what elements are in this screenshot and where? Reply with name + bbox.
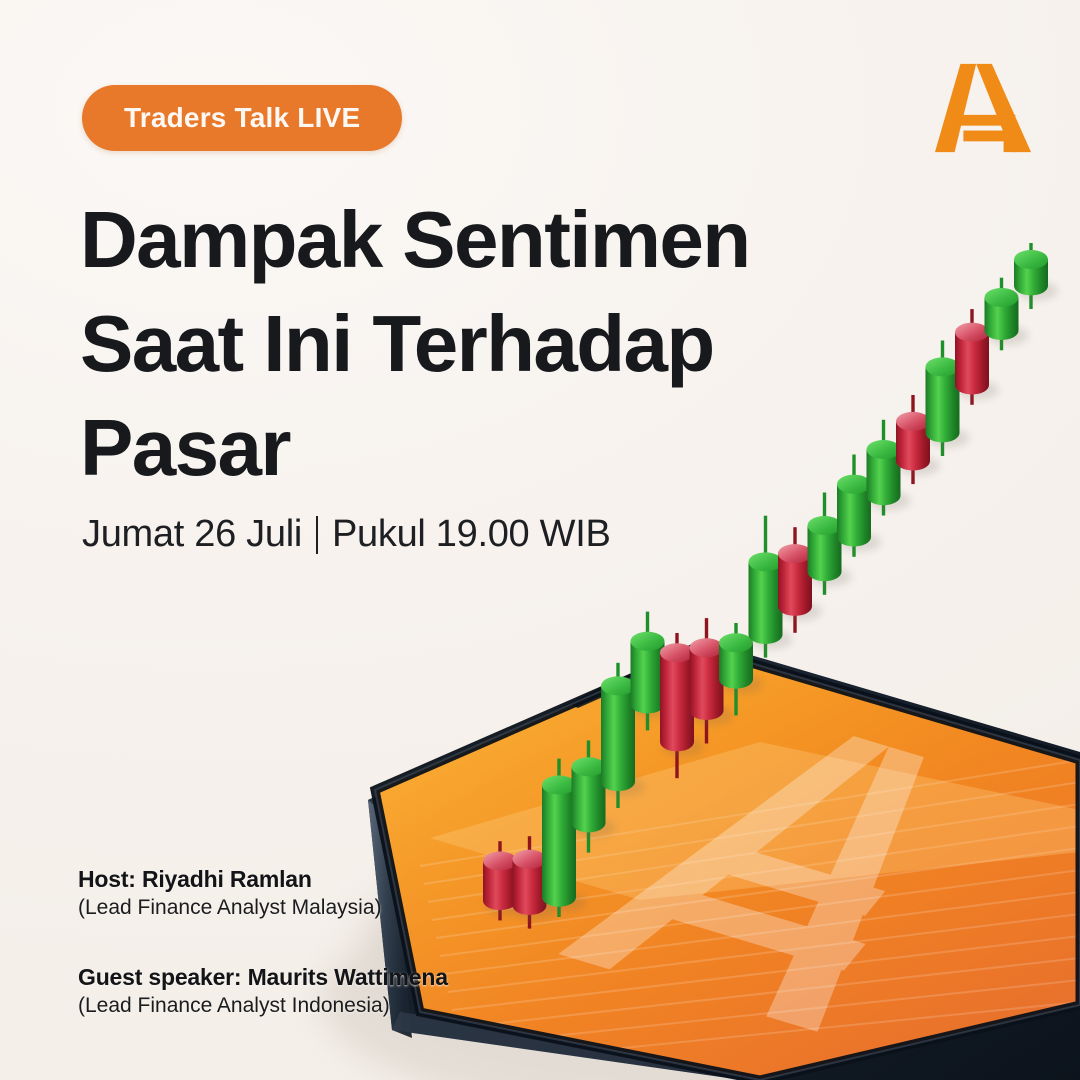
speaker-spacer xyxy=(78,920,448,964)
event-date: Jumat 26 Juli xyxy=(82,513,302,556)
speaker-list: Host: Riyadhi Ramlan (Lead Finance Analy… xyxy=(78,866,448,1018)
ascendex-a-logo xyxy=(934,58,1032,158)
guest-title: (Lead Finance Analyst Indonesia) xyxy=(78,994,448,1018)
guest-name: Guest speaker: Maurits Wattimena xyxy=(78,964,448,991)
host-name: Host: Riyadhi Ramlan xyxy=(78,866,448,893)
host-title: (Lead Finance Analyst Malaysia) xyxy=(78,896,448,920)
headline-line-2: Saat Ini Terhadap xyxy=(80,292,820,396)
headline-line-3: Pasar xyxy=(80,396,820,500)
event-schedule: Jumat 26 Juli Pukul 19.00 WIB xyxy=(82,513,611,556)
live-badge-label: Traders Talk LIVE xyxy=(124,102,360,134)
event-time: Pukul 19.00 WIB xyxy=(332,513,611,556)
promo-poster: Traders Talk LIVE Dampak Sentimen Saat I… xyxy=(0,0,1080,1080)
page-title: Dampak Sentimen Saat Ini Terhadap Pasar xyxy=(80,188,820,500)
headline-line-1: Dampak Sentimen xyxy=(80,188,820,292)
live-badge[interactable]: Traders Talk LIVE xyxy=(82,85,402,151)
schedule-separator xyxy=(316,516,318,554)
